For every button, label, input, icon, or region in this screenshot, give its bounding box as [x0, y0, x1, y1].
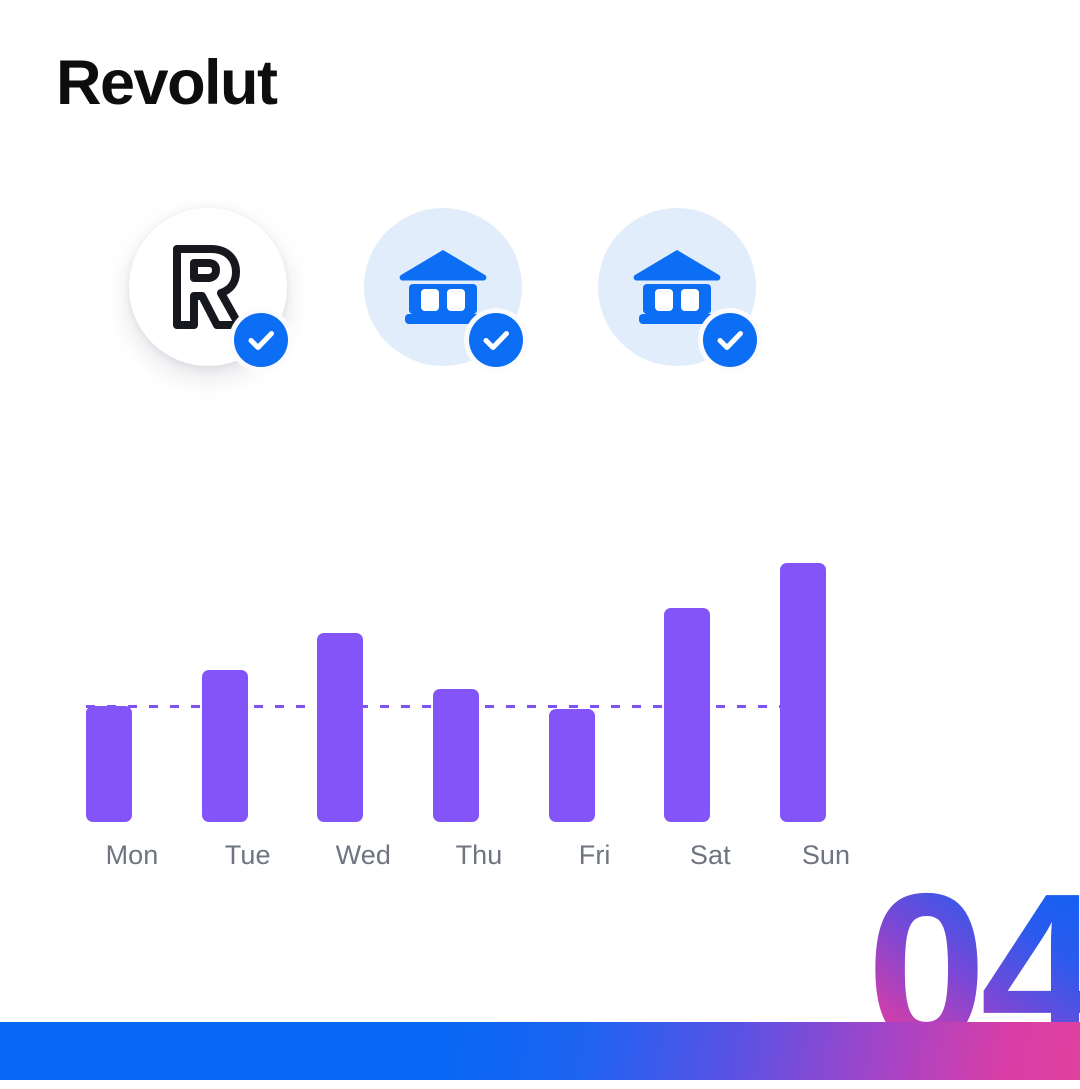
chart-x-axis-labels: MonTueWedThuFriSatSun: [86, 840, 826, 880]
account-item-revolut-account[interactable]: [129, 208, 287, 366]
bar-column[interactable]: [433, 540, 479, 822]
chart-plot-area: [86, 540, 826, 822]
axis-label-tue: Tue: [193, 840, 303, 871]
bank-icon: [633, 248, 721, 326]
bar-sun: [780, 563, 826, 822]
bar-sat: [664, 608, 710, 822]
bar-thu: [433, 689, 479, 822]
verified-check-icon: [703, 313, 757, 367]
bar-column[interactable]: [780, 540, 826, 822]
account-item-linked-bank-1[interactable]: [364, 208, 522, 366]
axis-label-sat: Sat: [655, 840, 765, 871]
axis-label-fri: Fri: [540, 840, 650, 871]
bar-column[interactable]: [549, 540, 595, 822]
axis-label-mon: Mon: [77, 840, 187, 871]
account-item-linked-bank-2[interactable]: [598, 208, 756, 366]
weekly-spend-chart: MonTueWedThuFriSatSun: [0, 540, 1080, 890]
bank-icon: [399, 248, 487, 326]
verified-badge: [698, 308, 762, 372]
bar-column[interactable]: [664, 540, 710, 822]
bottom-gradient-band: [0, 1022, 1080, 1080]
verified-check-icon: [469, 313, 523, 367]
bar-tue: [202, 670, 248, 822]
verified-badge: [229, 308, 293, 372]
axis-label-sun: Sun: [771, 840, 881, 871]
revolut-monogram-icon: [171, 245, 245, 329]
axis-label-thu: Thu: [424, 840, 534, 871]
axis-label-wed: Wed: [308, 840, 418, 871]
brand-wordmark: Revolut: [56, 52, 277, 115]
bar-column[interactable]: [317, 540, 363, 822]
bar-mon: [86, 706, 132, 822]
bar-column[interactable]: [202, 540, 248, 822]
linked-accounts-row: [129, 208, 837, 404]
bar-wed: [317, 633, 363, 822]
verified-check-icon: [234, 313, 288, 367]
bar-fri: [549, 709, 595, 822]
bar-column[interactable]: [86, 540, 132, 822]
verified-badge: [464, 308, 528, 372]
